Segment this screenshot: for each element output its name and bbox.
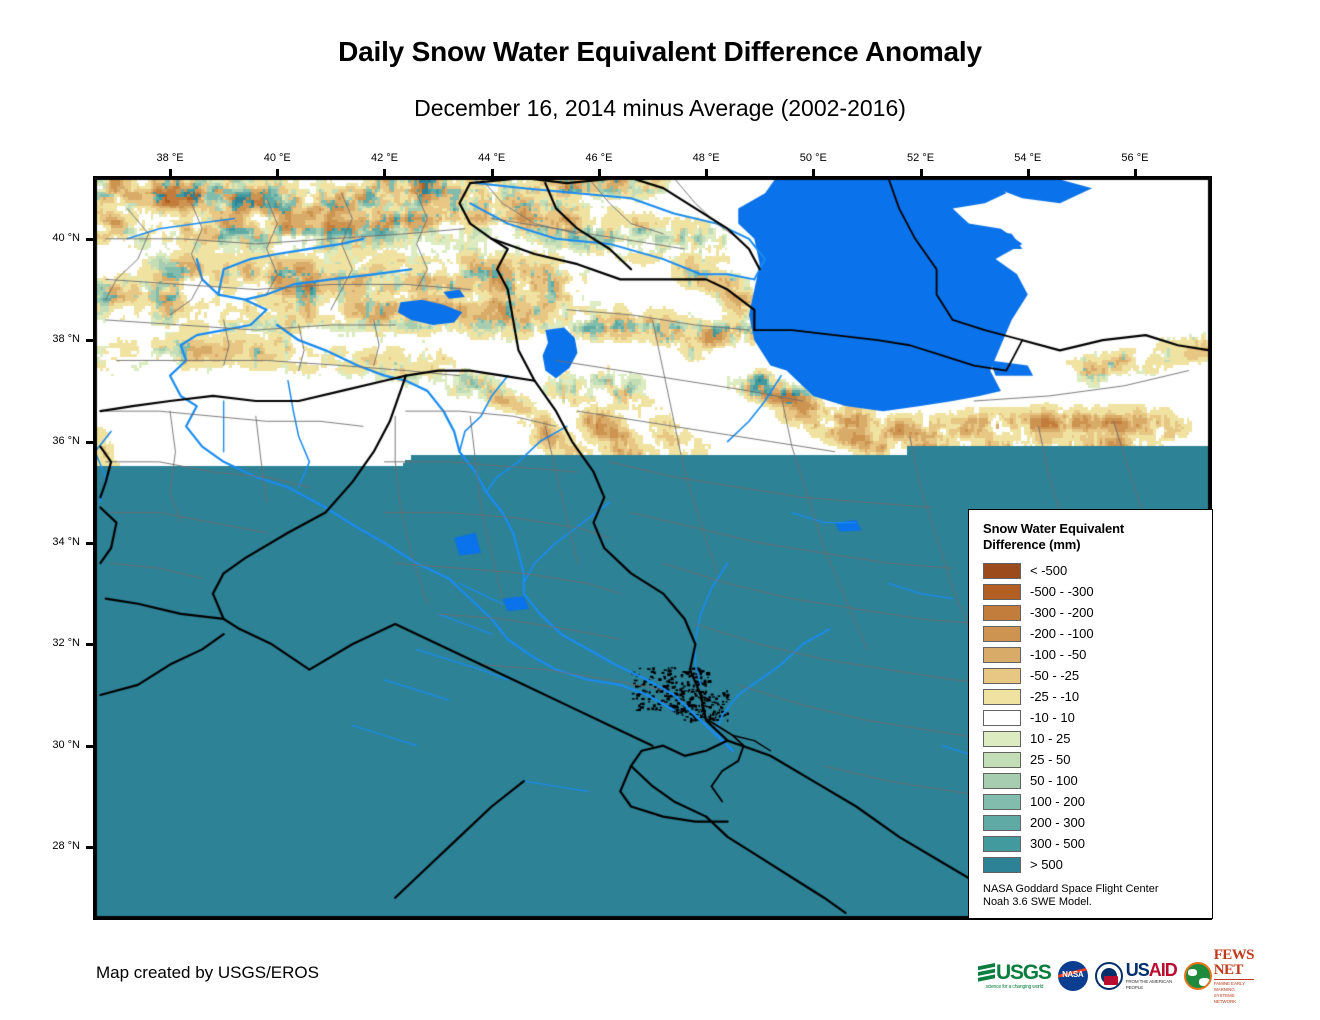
legend-label: 300 - 500 — [1030, 836, 1085, 852]
nasa-meatball-icon: NASA — [1058, 961, 1088, 991]
legend-row: -100 - -50 — [983, 644, 1212, 665]
lat-label: 32 °N — [20, 637, 80, 649]
page-title: Daily Snow Water Equivalent Difference A… — [0, 36, 1320, 68]
legend-row: 200 - 300 — [983, 812, 1212, 833]
usgs-logo: USGS science for a changing world — [978, 957, 1051, 995]
lon-label: 54 °E — [998, 152, 1058, 164]
map-legend: Snow Water Equivalent Difference (mm) < … — [968, 509, 1213, 919]
legend-footer-line1: NASA Goddard Space Flight Center — [983, 883, 1198, 896]
legend-label: 50 - 100 — [1030, 773, 1078, 789]
legend-row: 50 - 100 — [983, 770, 1212, 791]
usgs-tagline: science for a changing world — [985, 984, 1043, 990]
legend-label: -10 - 10 — [1030, 710, 1075, 726]
lat-tick — [86, 339, 93, 342]
legend-title-line2: Difference (mm) — [983, 537, 1193, 553]
legend-row: < -500 — [983, 560, 1212, 581]
usaid-seal-icon — [1095, 962, 1123, 990]
legend-row: 10 - 25 — [983, 728, 1212, 749]
lon-tick — [169, 169, 172, 176]
legend-footer: NASA Goddard Space Flight Center Noah 3.… — [983, 883, 1198, 909]
legend-swatch — [983, 584, 1021, 600]
lat-label: 30 °N — [20, 739, 80, 751]
fewsnet-logo: FEWS NET FAMINE EARLY WARNING SYSTEMS NE… — [1184, 957, 1254, 995]
lon-tick — [1134, 169, 1137, 176]
usgs-logo-mark: USGS — [978, 963, 1051, 983]
legend-label: -50 - -25 — [1030, 668, 1079, 684]
lon-label: 42 °E — [354, 152, 414, 164]
lon-label: 38 °E — [140, 152, 200, 164]
lon-tick — [812, 169, 815, 176]
legend-label: > 500 — [1030, 857, 1063, 873]
legend-row: -300 - -200 — [983, 602, 1212, 623]
fewsnet-globe-icon — [1184, 962, 1212, 990]
usgs-wordmark: USGS — [996, 963, 1051, 983]
legend-swatch — [983, 710, 1021, 726]
lat-tick — [86, 643, 93, 646]
legend-swatch — [983, 563, 1021, 579]
fewsnet-wordmark: FEWS NET — [1214, 948, 1254, 978]
lon-label: 52 °E — [891, 152, 951, 164]
lat-tick — [86, 542, 93, 545]
usaid-logo: USAID FROM THE AMERICAN PEOPLE — [1095, 957, 1177, 995]
legend-swatch — [983, 752, 1021, 768]
legend-swatch — [983, 836, 1021, 852]
legend-label: -25 - -10 — [1030, 689, 1079, 705]
legend-title: Snow Water Equivalent Difference (mm) — [983, 521, 1193, 553]
usaid-tagline: FROM THE AMERICAN PEOPLE — [1126, 979, 1177, 991]
legend-row: -200 - -100 — [983, 623, 1212, 644]
usaid-wordmark: USAID — [1126, 962, 1177, 979]
lon-tick — [276, 169, 279, 176]
map-page: Daily Snow Water Equivalent Difference A… — [0, 0, 1320, 1020]
lon-tick — [383, 169, 386, 176]
legend-swatch — [983, 668, 1021, 684]
legend-swatch — [983, 773, 1021, 789]
legend-label: 200 - 300 — [1030, 815, 1085, 831]
lon-label: 50 °E — [783, 152, 843, 164]
lon-tick — [705, 169, 708, 176]
legend-swatch — [983, 605, 1021, 621]
legend-label: -500 - -300 — [1030, 584, 1094, 600]
lon-tick — [491, 169, 494, 176]
lat-label: 36 °N — [20, 435, 80, 447]
legend-swatch — [983, 794, 1021, 810]
nasa-wordmark: NASA — [1058, 970, 1088, 979]
legend-swatch — [983, 647, 1021, 663]
legend-row: 25 - 50 — [983, 749, 1212, 770]
lat-label: 34 °N — [20, 536, 80, 548]
lat-label: 28 °N — [20, 840, 80, 852]
lon-tick — [1027, 169, 1030, 176]
legend-label: -100 - -50 — [1030, 647, 1086, 663]
lon-label: 56 °E — [1105, 152, 1165, 164]
legend-row: 300 - 500 — [983, 833, 1212, 854]
legend-row: 100 - 200 — [983, 791, 1212, 812]
fewsnet-tagline: FAMINE EARLY WARNING SYSTEMS NETWORK — [1214, 981, 1254, 1005]
nasa-logo: NASA — [1058, 957, 1088, 995]
legend-row: -10 - 10 — [983, 707, 1212, 728]
legend-label: < -500 — [1030, 563, 1067, 579]
lon-label: 48 °E — [676, 152, 736, 164]
legend-row: -500 - -300 — [983, 581, 1212, 602]
legend-swatch — [983, 626, 1021, 642]
page-subtitle: December 16, 2014 minus Average (2002-20… — [0, 95, 1320, 122]
legend-label: 100 - 200 — [1030, 794, 1085, 810]
lon-tick — [920, 169, 923, 176]
legend-class-list: < -500-500 - -300-300 - -200-200 - -100-… — [983, 560, 1212, 875]
lon-tick — [598, 169, 601, 176]
lat-label: 38 °N — [20, 333, 80, 345]
legend-swatch — [983, 731, 1021, 747]
legend-row: > 500 — [983, 854, 1212, 875]
legend-footer-line2: Noah 3.6 SWE Model. — [983, 896, 1198, 909]
legend-label: -300 - -200 — [1030, 605, 1094, 621]
usgs-wave-icon — [978, 963, 995, 982]
lon-label: 44 °E — [462, 152, 522, 164]
legend-swatch — [983, 815, 1021, 831]
legend-row: -25 - -10 — [983, 686, 1212, 707]
legend-swatch — [983, 689, 1021, 705]
legend-label: 25 - 50 — [1030, 752, 1070, 768]
lat-tick — [86, 441, 93, 444]
legend-title-line1: Snow Water Equivalent — [983, 521, 1193, 537]
map-credit: Map created by USGS/EROS — [96, 963, 319, 983]
fewsnet-textblock: FEWS NET FAMINE EARLY WARNING SYSTEMS NE… — [1214, 948, 1254, 1005]
legend-swatch — [983, 857, 1021, 873]
lat-tick — [86, 846, 93, 849]
lat-label: 40 °N — [20, 232, 80, 244]
lat-tick — [86, 238, 93, 241]
legend-row: -50 - -25 — [983, 665, 1212, 686]
fewsnet-rule — [1214, 979, 1254, 980]
agency-logo-strip: USGS science for a changing world NASA U… — [978, 955, 1218, 997]
legend-label: 10 - 25 — [1030, 731, 1070, 747]
lat-tick — [86, 745, 93, 748]
legend-label: -200 - -100 — [1030, 626, 1094, 642]
lon-label: 46 °E — [569, 152, 629, 164]
lon-label: 40 °E — [247, 152, 307, 164]
usaid-textblock: USAID FROM THE AMERICAN PEOPLE — [1126, 962, 1177, 991]
